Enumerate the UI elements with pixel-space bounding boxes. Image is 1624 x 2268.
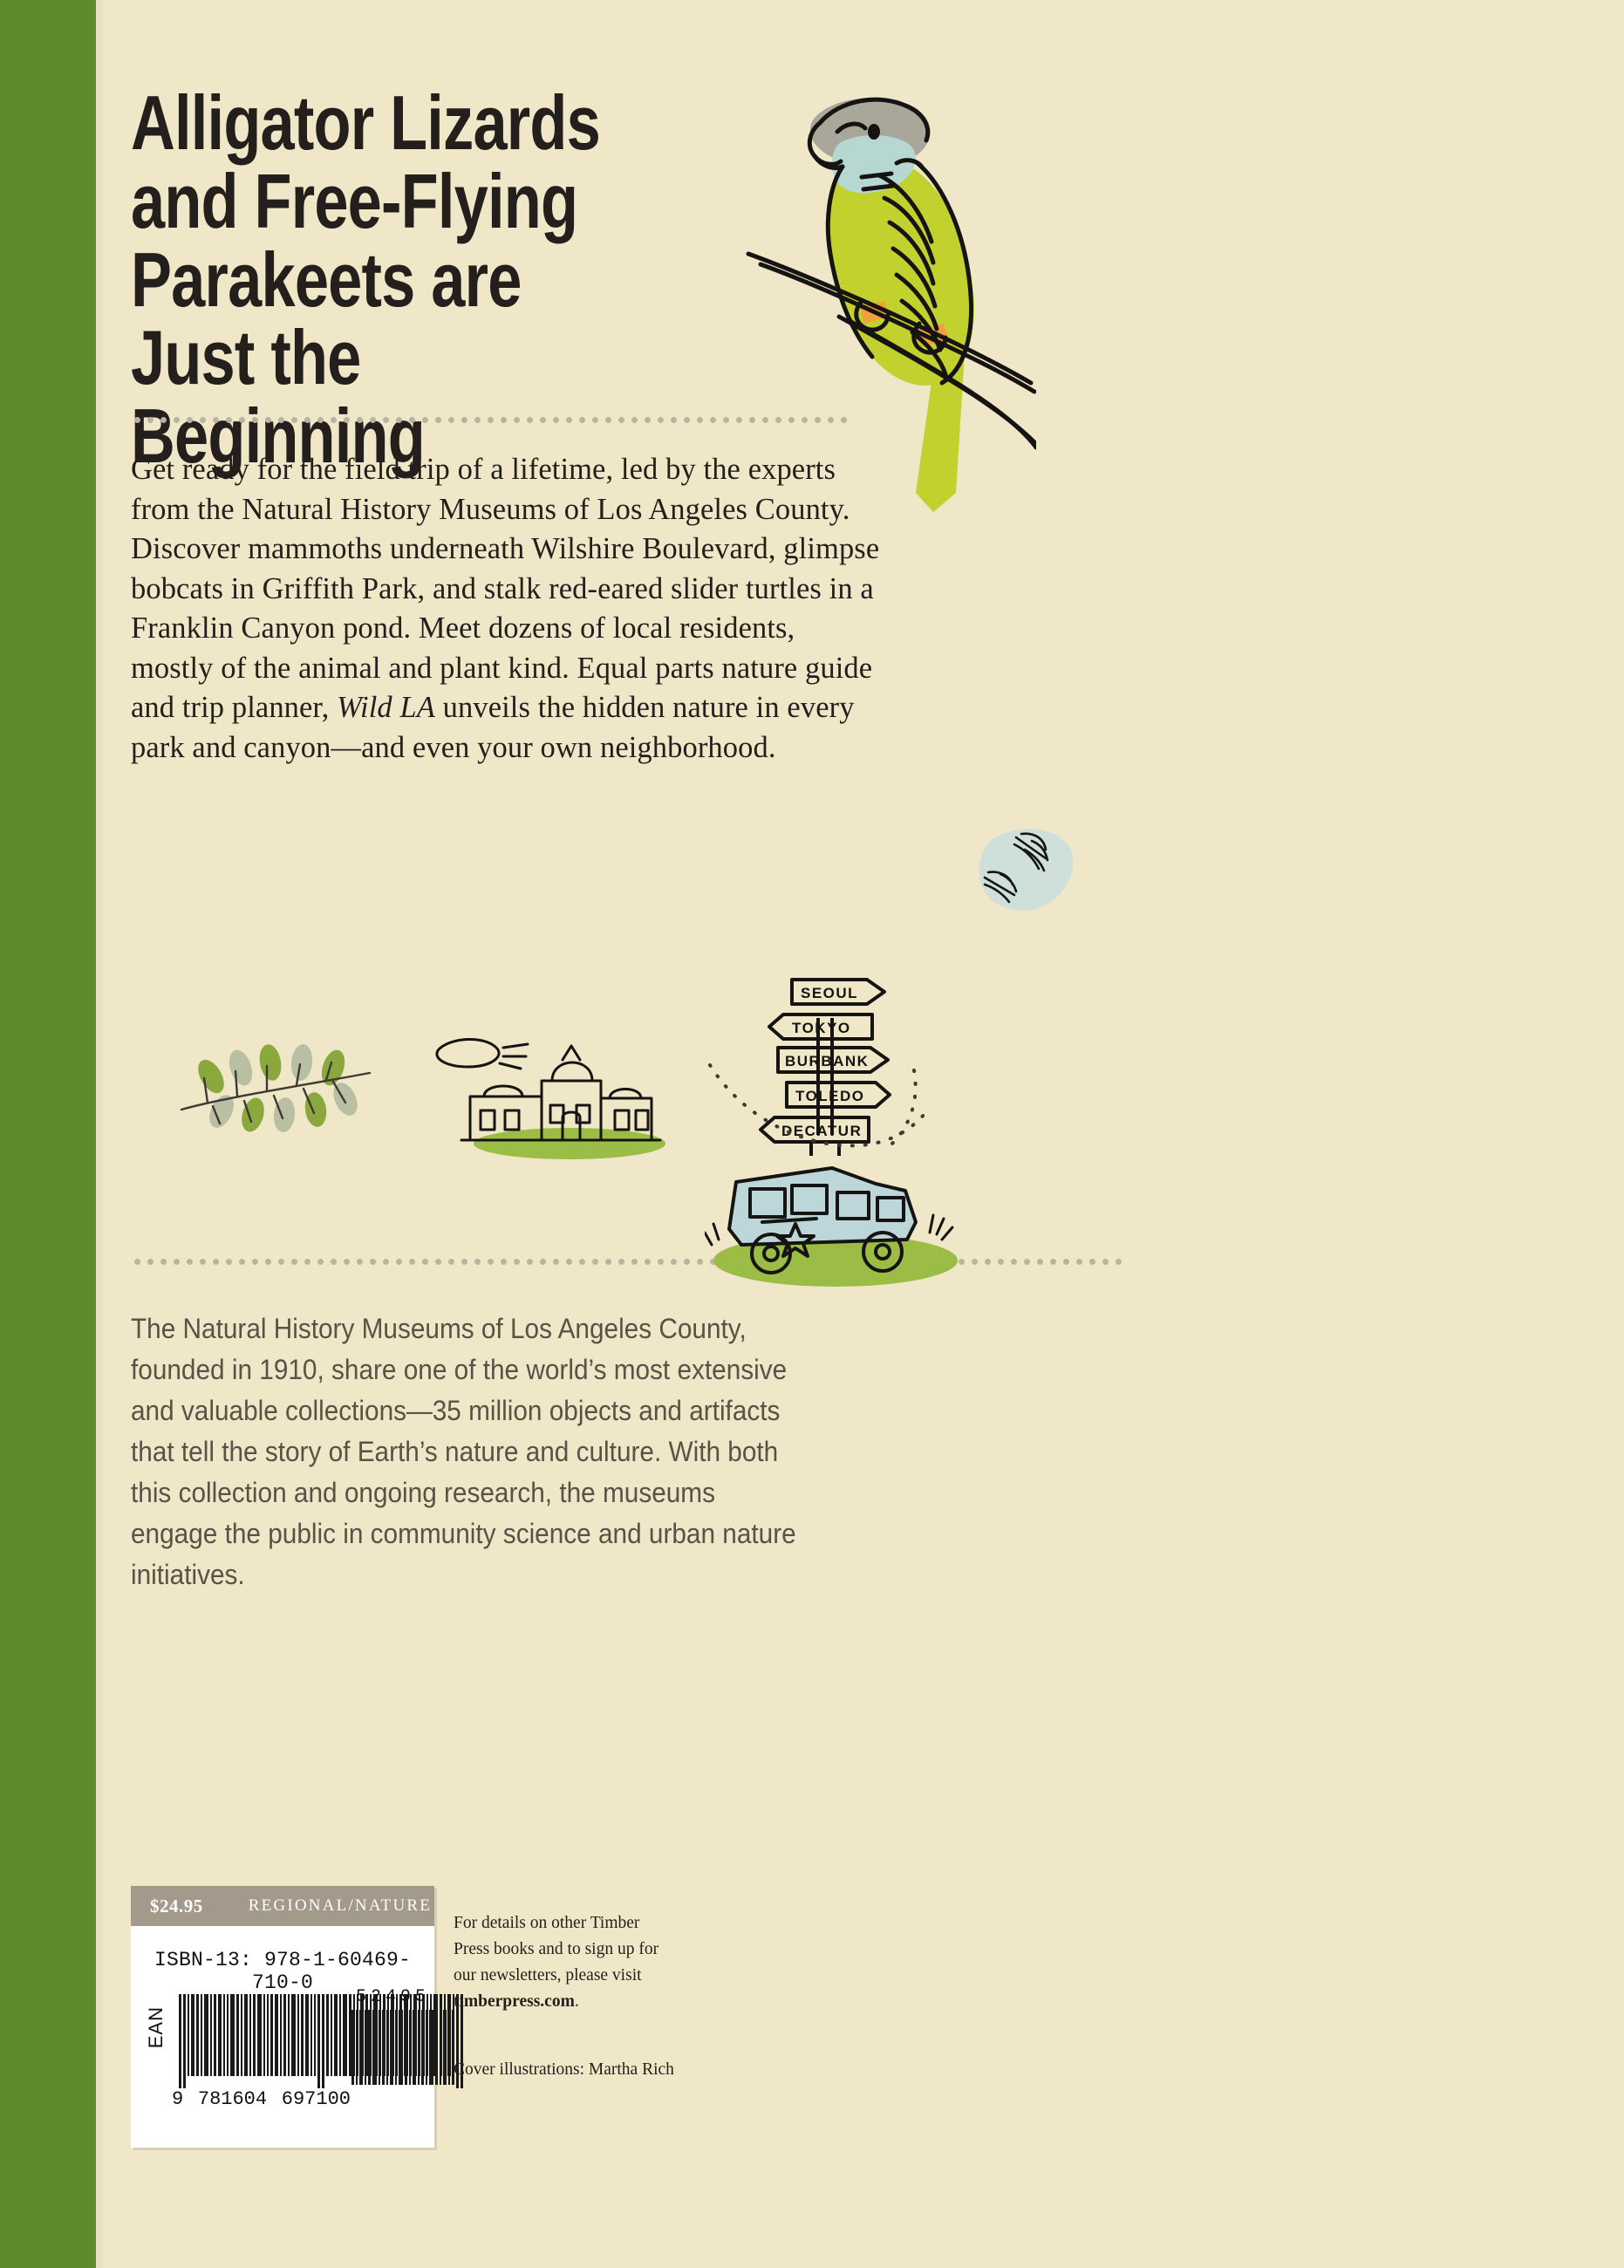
barcode-body: ISBN-13: 978-1-60469-710-0 EAN 52495 9 7… [131,1926,434,2148]
museum-building-illustration [430,1034,683,1160]
cover-content: Alligator Lizards and Free-Flying Parake… [129,0,1624,2268]
ean-digit-group-2: 781604 [198,2088,267,2110]
addon-barcode-bars [351,2010,456,2088]
illustration-credit: Cover illustrations: Martha Rich [454,2057,715,2083]
ean-digits: 9 781604 697100 [172,2088,351,2110]
barcode-block: $24.95 REGIONAL/NATURE ISBN-13: 978-1-60… [131,1886,434,2148]
olive-branch-illustration [173,1038,382,1138]
svg-text:SEOUL: SEOUL [801,985,858,1001]
ean-label: EAN [145,2006,167,2048]
addon-digits: 52495 [356,1987,430,2007]
barcode-header: $24.95 REGIONAL/NATURE [131,1886,434,1926]
svg-text:TOKYO: TOKYO [792,1020,851,1036]
press-note: For details on other Timber Press books … [454,1910,672,2015]
about-paragraph: The Natural History Museums of Los Angel… [131,1308,804,1595]
press-note-text: For details on other Timber Press books … [454,1914,658,1984]
bus-illustration [705,1138,958,1300]
dragonfly-illustration [971,820,1080,920]
lead-text-part1: Get ready for the field trip of a lifeti… [131,453,879,724]
spine-edge [96,0,103,2268]
divider-bottom [131,1259,1125,1265]
ean-digit-group-1: 9 [172,2088,183,2110]
category-label: REGIONAL/NATURE [249,1896,432,1916]
divider-top [131,417,853,423]
press-note-period: . [575,1992,579,2011]
price-label: $24.95 [150,1896,203,1917]
spine-band [0,0,96,2268]
press-domain: timberpress.com [454,1992,575,2011]
book-title-italic: Wild LA [337,691,435,724]
book-back-cover: Alligator Lizards and Free-Flying Parake… [0,0,1624,2268]
ean-digit-group-3: 697100 [282,2088,351,2110]
lead-paragraph: Get ready for the field trip of a lifeti… [131,450,881,768]
